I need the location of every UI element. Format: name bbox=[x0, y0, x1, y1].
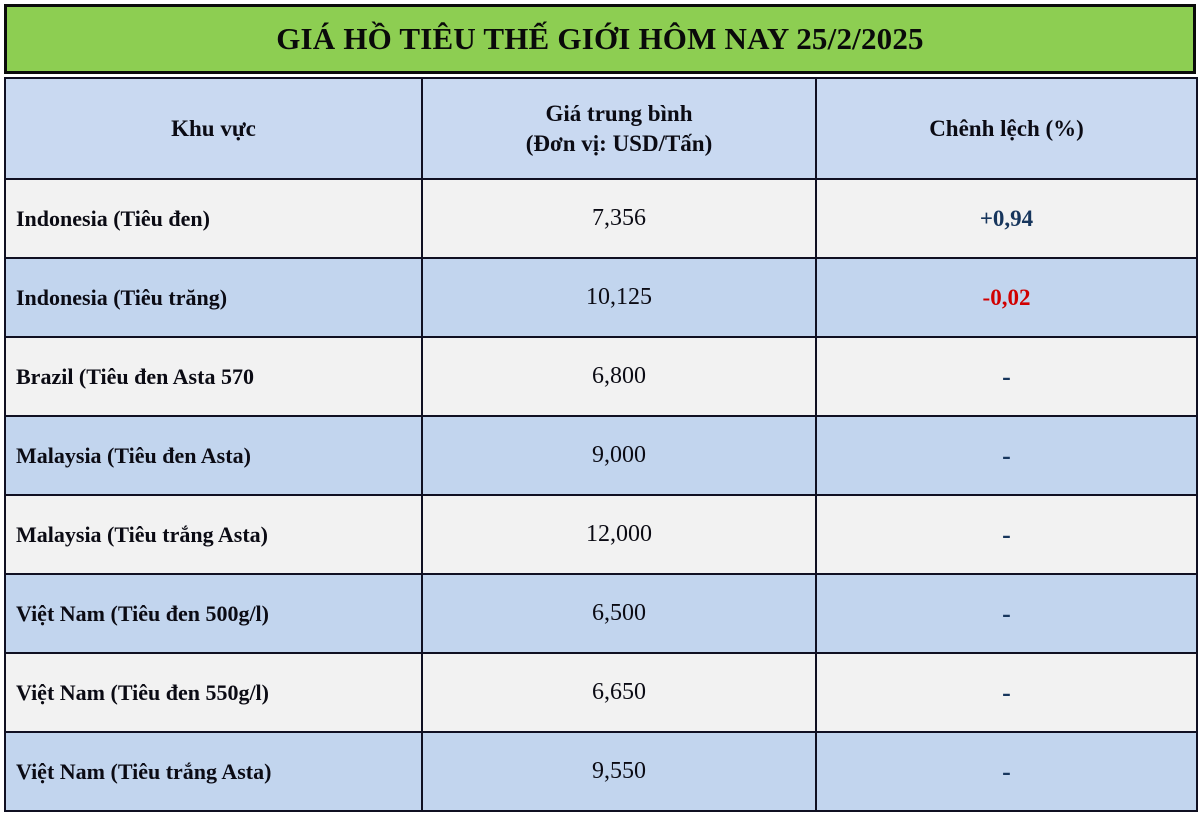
cell-change: - bbox=[816, 337, 1197, 416]
cell-region: Việt Nam (Tiêu trắng Asta) bbox=[5, 732, 422, 811]
cell-change: - bbox=[816, 574, 1197, 653]
cell-change: - bbox=[816, 416, 1197, 495]
cell-change: - bbox=[816, 653, 1197, 732]
table-row: Việt Nam (Tiêu đen 500g/l)6,500- bbox=[5, 574, 1197, 653]
cell-price: 6,500 bbox=[422, 574, 816, 653]
cell-region: Việt Nam (Tiêu đen 550g/l) bbox=[5, 653, 422, 732]
cell-change: - bbox=[816, 495, 1197, 574]
column-header-price-line1: Giá trung bình bbox=[423, 99, 815, 128]
cell-region: Malaysia (Tiêu trắng Asta) bbox=[5, 495, 422, 574]
cell-region: Brazil (Tiêu đen Asta 570 bbox=[5, 337, 422, 416]
title-banner: GIÁ HỒ TIÊU THẾ GIỚI HÔM NAY 25/2/2025 bbox=[4, 4, 1196, 74]
table-row: Indonesia (Tiêu trăng)10,125-0,02 bbox=[5, 258, 1197, 337]
table-row: Brazil (Tiêu đen Asta 5706,800- bbox=[5, 337, 1197, 416]
table-row: Malaysia (Tiêu trắng Asta)12,000- bbox=[5, 495, 1197, 574]
cell-region: Việt Nam (Tiêu đen 500g/l) bbox=[5, 574, 422, 653]
column-header-region: Khu vực bbox=[5, 78, 422, 179]
table-row: Việt Nam (Tiêu đen 550g/l)6,650- bbox=[5, 653, 1197, 732]
table-header: Khu vực Giá trung bình (Đơn vị: USD/Tấn)… bbox=[5, 78, 1197, 179]
cell-change: -0,02 bbox=[816, 258, 1197, 337]
table-row: Indonesia (Tiêu đen)7,356+0,94 bbox=[5, 179, 1197, 258]
cell-change: +0,94 bbox=[816, 179, 1197, 258]
cell-region: Indonesia (Tiêu trăng) bbox=[5, 258, 422, 337]
table-header-row: Khu vực Giá trung bình (Đơn vị: USD/Tấn)… bbox=[5, 78, 1197, 179]
cell-price: 7,356 bbox=[422, 179, 816, 258]
table-row: Việt Nam (Tiêu trắng Asta)9,550- bbox=[5, 732, 1197, 811]
cell-price: 9,000 bbox=[422, 416, 816, 495]
cell-region: Indonesia (Tiêu đen) bbox=[5, 179, 422, 258]
column-header-price: Giá trung bình (Đơn vị: USD/Tấn) bbox=[422, 78, 816, 179]
column-header-price-line2: (Đơn vị: USD/Tấn) bbox=[423, 129, 815, 158]
page-title: GIÁ HỒ TIÊU THẾ GIỚI HÔM NAY 25/2/2025 bbox=[276, 21, 924, 57]
cell-price: 6,650 bbox=[422, 653, 816, 732]
pepper-price-table-page: Doanh nghiệp & Hội nhập GIÁ HỒ TIÊU THẾ … bbox=[0, 0, 1200, 814]
cell-price: 12,000 bbox=[422, 495, 816, 574]
cell-price: 6,800 bbox=[422, 337, 816, 416]
table-body: Indonesia (Tiêu đen)7,356+0,94Indonesia … bbox=[5, 179, 1197, 811]
cell-region: Malaysia (Tiêu đen Asta) bbox=[5, 416, 422, 495]
cell-change: - bbox=[816, 732, 1197, 811]
table-row: Malaysia (Tiêu đen Asta)9,000- bbox=[5, 416, 1197, 495]
price-table: Khu vực Giá trung bình (Đơn vị: USD/Tấn)… bbox=[4, 77, 1198, 812]
cell-price: 9,550 bbox=[422, 732, 816, 811]
column-header-change: Chênh lệch (%) bbox=[816, 78, 1197, 179]
cell-price: 10,125 bbox=[422, 258, 816, 337]
